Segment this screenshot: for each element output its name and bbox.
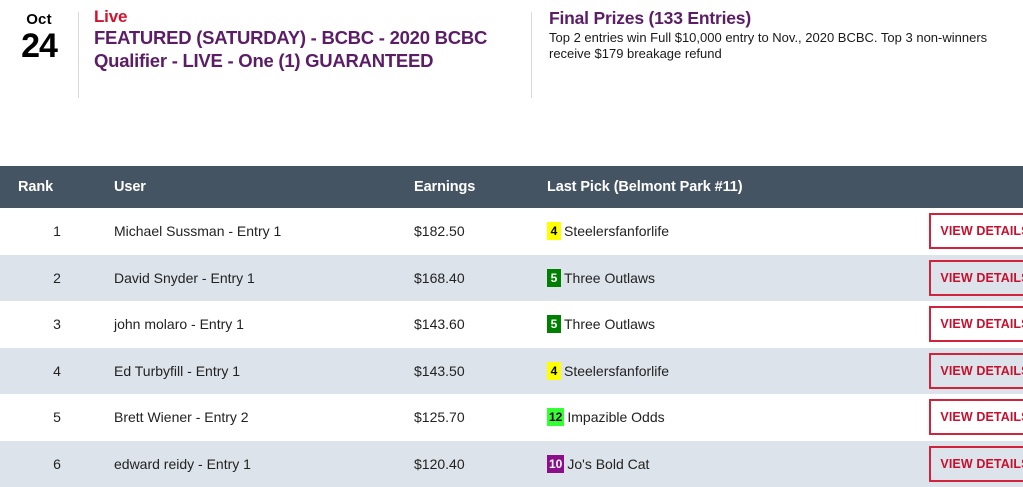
cell-rank: 3 xyxy=(0,301,114,348)
view-details-button[interactable]: VIEW DETAILS xyxy=(929,213,1023,249)
pick-horse-name: Three Outlaws xyxy=(564,270,655,286)
column-header-user[interactable]: User xyxy=(114,166,414,208)
cell-rank: 6 xyxy=(0,441,114,487)
pick-horse-name: Three Outlaws xyxy=(564,316,655,332)
view-details-button[interactable]: VIEW DETAILS xyxy=(929,353,1023,389)
cell-last-pick: 12Impazible Odds xyxy=(547,394,917,441)
cell-action: VIEW DETAILS xyxy=(917,441,1023,487)
cell-action: VIEW DETAILS xyxy=(917,208,1023,255)
last-pick-wrapper: 4Steelersfanforlife xyxy=(547,222,669,240)
last-pick-wrapper: 4Steelersfanforlife xyxy=(547,362,669,380)
view-details-button[interactable]: VIEW DETAILS xyxy=(929,399,1023,435)
leaderboard-table: Rank User Earnings Last Pick (Belmont Pa… xyxy=(0,166,1023,487)
cell-earnings: $120.40 xyxy=(414,441,547,487)
pick-number-badge: 10 xyxy=(547,455,564,473)
cell-action: VIEW DETAILS xyxy=(917,394,1023,441)
last-pick-wrapper: 5Three Outlaws xyxy=(547,269,655,287)
cell-action: VIEW DETAILS xyxy=(917,348,1023,395)
pick-number-badge: 5 xyxy=(547,269,561,287)
cell-last-pick: 5Three Outlaws xyxy=(547,255,917,302)
cell-rank: 1 xyxy=(0,208,114,255)
pick-number-badge: 12 xyxy=(547,408,564,426)
final-prizes-block: Final Prizes (133 Entries) Top 2 entries… xyxy=(532,8,1023,62)
pick-number-badge: 4 xyxy=(547,362,561,380)
cell-action: VIEW DETAILS xyxy=(917,301,1023,348)
leaderboard-body: 1Michael Sussman - Entry 1$182.504Steele… xyxy=(0,208,1023,487)
column-header-last-pick[interactable]: Last Pick (Belmont Park #11) xyxy=(547,166,917,208)
cell-rank: 2 xyxy=(0,255,114,302)
table-row[interactable]: 1Michael Sussman - Entry 1$182.504Steele… xyxy=(0,208,1023,255)
pick-number-badge: 5 xyxy=(547,315,561,333)
view-details-button[interactable]: VIEW DETAILS xyxy=(929,260,1023,296)
event-header: Oct 24 Live FEATURED (SATURDAY) - BCBC -… xyxy=(0,0,1023,104)
cell-user: Ed Turbyfill - Entry 1 xyxy=(114,348,414,395)
cell-last-pick: 4Steelersfanforlife xyxy=(547,208,917,255)
pick-horse-name: Steelersfanforlife xyxy=(564,223,669,239)
cell-earnings: $168.40 xyxy=(414,255,547,302)
event-date-day: 24 xyxy=(0,28,78,64)
column-header-rank[interactable]: Rank xyxy=(0,166,114,208)
cell-last-pick: 4Steelersfanforlife xyxy=(547,348,917,395)
final-prizes-description: Top 2 entries win Full $10,000 entry to … xyxy=(549,30,1011,62)
cell-last-pick: 5Three Outlaws xyxy=(547,301,917,348)
view-details-button[interactable]: VIEW DETAILS xyxy=(929,446,1023,482)
leaderboard-header-row: Rank User Earnings Last Pick (Belmont Pa… xyxy=(0,166,1023,208)
pick-horse-name: Jo's Bold Cat xyxy=(567,456,649,472)
live-status-badge: Live xyxy=(94,8,531,26)
table-row[interactable]: 3john molaro - Entry 1$143.605Three Outl… xyxy=(0,301,1023,348)
cell-user: Michael Sussman - Entry 1 xyxy=(114,208,414,255)
cell-user: edward reidy - Entry 1 xyxy=(114,441,414,487)
event-title[interactable]: FEATURED (SATURDAY) - BCBC - 2020 BCBC Q… xyxy=(94,27,531,72)
last-pick-wrapper: 10Jo's Bold Cat xyxy=(547,455,649,473)
cell-user: David Snyder - Entry 1 xyxy=(114,255,414,302)
table-row[interactable]: 5Brett Wiener - Entry 2$125.7012Impazibl… xyxy=(0,394,1023,441)
cell-earnings: $143.50 xyxy=(414,348,547,395)
final-prizes-title: Final Prizes (133 Entries) xyxy=(549,8,1015,29)
table-row[interactable]: 6edward reidy - Entry 1$120.4010Jo's Bol… xyxy=(0,441,1023,487)
view-details-button[interactable]: VIEW DETAILS xyxy=(929,306,1023,342)
cell-action: VIEW DETAILS xyxy=(917,255,1023,302)
event-title-block: Live FEATURED (SATURDAY) - BCBC - 2020 B… xyxy=(79,8,531,72)
cell-last-pick: 10Jo's Bold Cat xyxy=(547,441,917,487)
event-date: Oct 24 xyxy=(0,8,78,64)
cell-user: john molaro - Entry 1 xyxy=(114,301,414,348)
pick-horse-name: Steelersfanforlife xyxy=(564,363,669,379)
pick-number-badge: 4 xyxy=(547,222,561,240)
cell-rank: 4 xyxy=(0,348,114,395)
leaderboard-head: Rank User Earnings Last Pick (Belmont Pa… xyxy=(0,166,1023,208)
column-header-action xyxy=(917,166,1023,208)
column-header-earnings[interactable]: Earnings xyxy=(414,166,547,208)
leaderboard-section: Rank User Earnings Last Pick (Belmont Pa… xyxy=(0,166,1023,487)
cell-rank: 5 xyxy=(0,394,114,441)
cell-earnings: $143.60 xyxy=(414,301,547,348)
table-row[interactable]: 2David Snyder - Entry 1$168.405Three Out… xyxy=(0,255,1023,302)
cell-user: Brett Wiener - Entry 2 xyxy=(114,394,414,441)
cell-earnings: $125.70 xyxy=(414,394,547,441)
pick-horse-name: Impazible Odds xyxy=(567,409,664,425)
last-pick-wrapper: 5Three Outlaws xyxy=(547,315,655,333)
table-row[interactable]: 4Ed Turbyfill - Entry 1$143.504Steelersf… xyxy=(0,348,1023,395)
last-pick-wrapper: 12Impazible Odds xyxy=(547,408,665,426)
event-date-month: Oct xyxy=(0,12,78,28)
cell-earnings: $182.50 xyxy=(414,208,547,255)
